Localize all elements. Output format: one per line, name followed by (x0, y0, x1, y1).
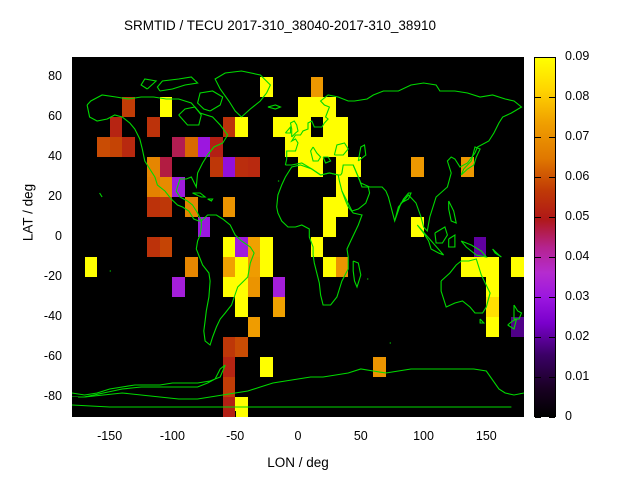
y-tick-mark (72, 157, 78, 158)
coastline-path (449, 201, 457, 223)
colorbar-tick-mark (549, 97, 555, 98)
x-tick-label: 50 (331, 429, 391, 443)
coastline-path (196, 215, 254, 345)
coastline-path (215, 71, 270, 117)
coastline-path (100, 193, 103, 197)
colorbar-tick-mark (535, 177, 541, 178)
x-tick-mark (298, 411, 299, 417)
y-tick-label: 0 (2, 229, 62, 243)
colorbar-tick-label: 0.07 (565, 129, 589, 143)
coastline-layer (72, 57, 524, 417)
coastline-path (514, 305, 522, 319)
colorbar-tick-mark (549, 217, 555, 218)
x-tick-label: 0 (268, 429, 328, 443)
x-tick-label: -100 (142, 429, 202, 443)
coastline-path (334, 143, 348, 155)
coastline-path (193, 193, 206, 197)
colorbar-tick-mark (535, 297, 541, 298)
colorbar-tick-mark (549, 297, 555, 298)
chart-root: SRMTID / TECU 2017-310_38040-2017-310_38… (0, 0, 640, 480)
coastline-path (323, 157, 331, 163)
y-tick-mark (72, 77, 78, 78)
coastline-path (493, 249, 502, 257)
coastline-path (87, 105, 201, 221)
coastline-path (353, 261, 361, 287)
coastline-path (441, 259, 490, 313)
x-axis-label: LON / deg (72, 455, 524, 470)
colorbar-tick-label: 0.04 (565, 249, 589, 263)
colorbar-tick-mark (549, 377, 555, 378)
coastline-path (358, 145, 366, 161)
x-tick-label: -50 (205, 429, 265, 443)
coastline-path (72, 365, 225, 397)
x-tick-mark (172, 411, 173, 417)
plot-area (72, 57, 524, 417)
colorbar-tick-mark (549, 177, 555, 178)
x-tick-mark (110, 411, 111, 417)
colorbar-tick-mark (535, 57, 541, 58)
y-tick-label: -20 (2, 269, 62, 283)
coastline-path (435, 227, 448, 243)
coastline-path (461, 241, 486, 257)
coastline-path (277, 165, 362, 305)
coastline-path (198, 91, 223, 111)
colorbar-gradient (535, 58, 555, 416)
y-tick-mark (72, 237, 78, 238)
y-axis-label: LAT / deg (21, 153, 36, 273)
colorbar-tick-label: 0.05 (565, 209, 589, 223)
colorbar-tick-mark (535, 137, 541, 138)
x-tick-label: 150 (456, 429, 516, 443)
y-tick-label: -60 (2, 349, 62, 363)
colorbar-tick-mark (549, 417, 555, 418)
coastline-path (285, 127, 290, 133)
y-tick-mark (72, 397, 78, 398)
colorbar-tick-label: 0.01 (565, 369, 589, 383)
coastline-path (480, 319, 484, 323)
y-tick-label: 60 (2, 109, 62, 123)
coastline-path (268, 105, 281, 109)
y-tick-label: -40 (2, 309, 62, 323)
x-tick-mark (424, 411, 425, 417)
colorbar-tick-label: 0.03 (565, 289, 589, 303)
y-tick-label: -80 (2, 389, 62, 403)
x-tick-mark (486, 411, 487, 417)
colorbar-tick-label: 0.09 (565, 49, 589, 63)
colorbar (534, 57, 556, 417)
coastline-path (508, 319, 517, 329)
colorbar-tick-mark (549, 57, 555, 58)
colorbar-tick-label: 0.06 (565, 169, 589, 183)
y-tick-label: 80 (2, 69, 62, 83)
coastline-path (449, 235, 455, 247)
y-tick-mark (72, 117, 78, 118)
coastline-path (72, 405, 511, 407)
coastline-path (157, 77, 197, 91)
y-tick-mark (72, 277, 78, 278)
coastline-path (311, 147, 321, 161)
colorbar-tick-label: 0.08 (565, 89, 589, 103)
colorbar-tick-mark (535, 97, 541, 98)
y-tick-label: 20 (2, 189, 62, 203)
y-tick-mark (72, 197, 78, 198)
colorbar-tick-label: 0.02 (565, 329, 589, 343)
coastline-path (417, 225, 443, 255)
colorbar-tick-mark (535, 377, 541, 378)
coastline-path (208, 199, 213, 201)
colorbar-tick-mark (535, 337, 541, 338)
colorbar-tick-mark (549, 257, 555, 258)
coastline-path (85, 369, 524, 399)
coastline-path (342, 165, 370, 211)
coastline-path (87, 95, 228, 221)
y-tick-label: 40 (2, 149, 62, 163)
colorbar-tick-mark (535, 417, 541, 418)
colorbar-tick-mark (549, 337, 555, 338)
chart-title: SRMTID / TECU 2017-310_38040-2017-310_38… (0, 18, 560, 33)
y-tick-mark (72, 317, 78, 318)
x-tick-mark (235, 411, 236, 417)
colorbar-tick-mark (535, 257, 541, 258)
colorbar-tick-mark (549, 137, 555, 138)
x-tick-mark (361, 411, 362, 417)
coastline-path (141, 79, 156, 89)
x-tick-label: -150 (80, 429, 140, 443)
y-tick-mark (72, 357, 78, 358)
colorbar-tick-label: 0 (565, 409, 572, 423)
colorbar-tick-mark (535, 217, 541, 218)
coastline-path (461, 147, 480, 175)
x-tick-label: 100 (394, 429, 454, 443)
